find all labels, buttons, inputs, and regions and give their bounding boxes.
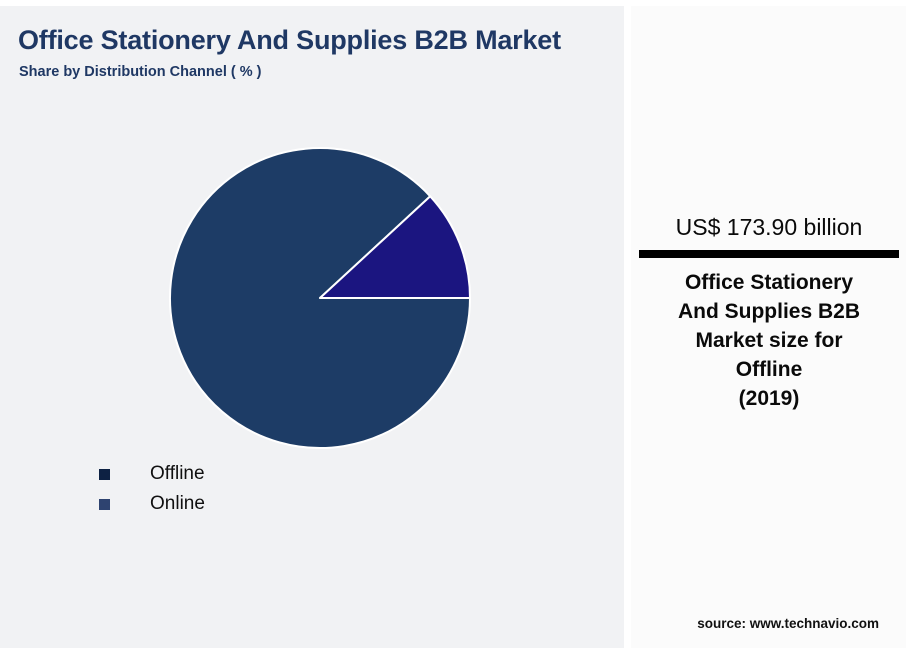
callout-divider: [639, 250, 899, 258]
pie-chart: [165, 143, 475, 453]
legend-item-offline[interactable]: Offline: [99, 462, 205, 486]
callout-caption-line: Offline: [654, 355, 884, 384]
page-subtitle: Share by Distribution Channel ( % ): [19, 64, 262, 80]
page-title: Office Stationery And Supplies B2B Marke…: [18, 25, 561, 56]
legend-item-online[interactable]: Online: [99, 492, 205, 516]
source-note: source: www.technavio.com: [697, 616, 879, 631]
legend-swatch-offline: [99, 469, 110, 480]
chart-canvas: Office Stationery And Supplies B2B Marke…: [0, 0, 906, 648]
callout-caption-line: Office Stationery: [654, 268, 884, 297]
chart-legend: Offline Online: [99, 462, 205, 516]
legend-label-offline: Offline: [150, 463, 205, 485]
callout-caption-line: And Supplies B2B: [654, 297, 884, 326]
pie-chart-svg: [165, 143, 475, 453]
callout-caption-line: (2019): [654, 384, 884, 413]
callout-caption-line: Market size for: [654, 326, 884, 355]
legend-swatch-online: [99, 499, 110, 510]
callout-caption: Office Stationery And Supplies B2B Marke…: [654, 268, 884, 413]
legend-label-online: Online: [150, 493, 205, 515]
callout-value: US$ 173.90 billion: [639, 214, 899, 241]
